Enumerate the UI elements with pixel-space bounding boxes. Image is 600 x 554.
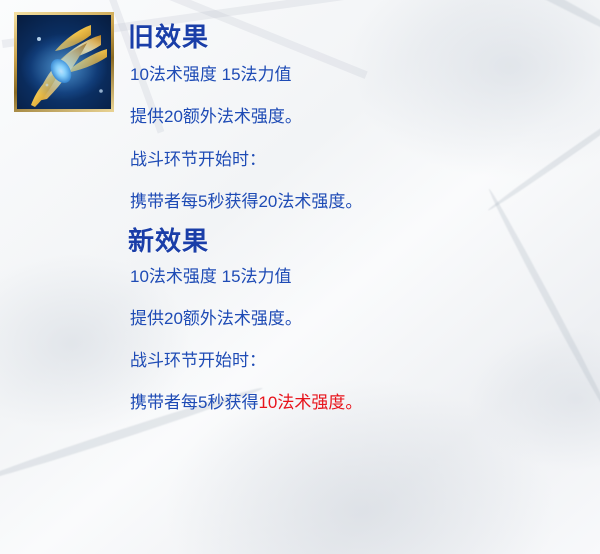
old-effect-heading: 旧效果: [128, 24, 209, 50]
page-root: 旧效果 10法术强度 15法力值 提供20额外法术强度。 战斗环节开始时： 携带…: [0, 0, 600, 554]
old-effect-line-1: 10法术强度 15法力值: [130, 66, 292, 83]
new-effect-line-1: 10法术强度 15法力值: [130, 268, 292, 285]
new-effect-heading: 新效果: [128, 228, 209, 254]
spell-blade-item-icon: [14, 12, 114, 112]
old-effect-line-4-pre: 携带者每5秒获得20法术强度。: [130, 192, 362, 211]
new-effect-line-4: 携带者每5秒获得10法术强度。: [130, 394, 362, 411]
new-effect-line-2: 提供20额外法术强度。: [130, 310, 302, 327]
marble-vein: [486, 187, 600, 420]
icon-glow: [21, 34, 107, 100]
marble-vein: [486, 93, 600, 213]
old-effect-line-2: 提供20额外法术强度。: [130, 108, 302, 125]
old-effect-line-3: 战斗环节开始时：: [130, 151, 266, 168]
old-effect-line-4: 携带者每5秒获得20法术强度。: [130, 193, 362, 210]
marble-vein: [346, 0, 600, 45]
new-effect-line-4-highlight: 10法术强度。: [258, 393, 362, 412]
new-effect-line-3: 战斗环节开始时：: [130, 352, 266, 369]
new-effect-line-4-pre: 携带者每5秒获得: [130, 393, 258, 412]
